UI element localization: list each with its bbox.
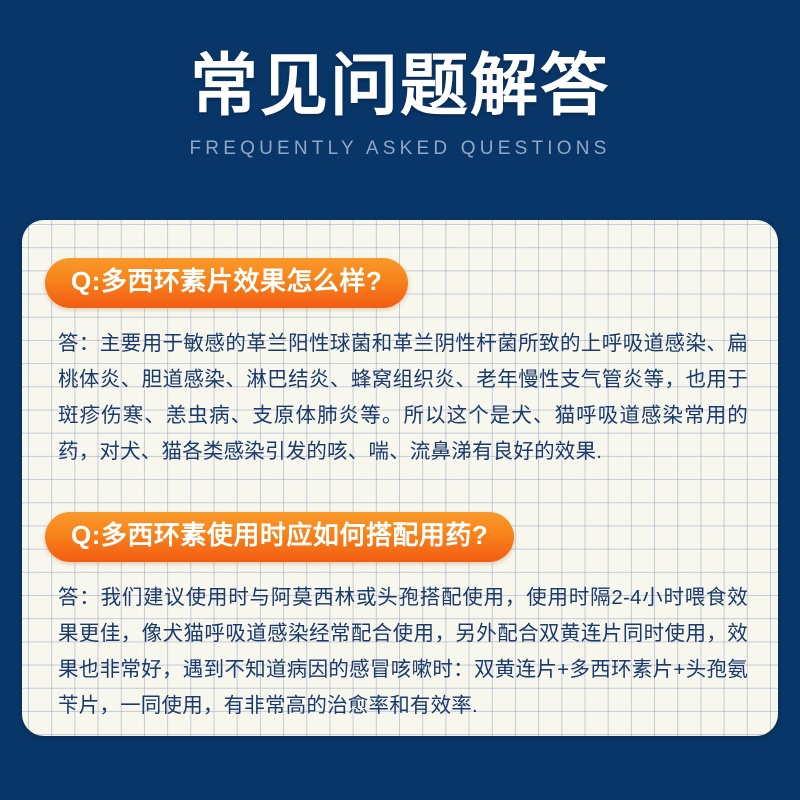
page-title: 常见问题解答 [0, 52, 800, 120]
answer-text-2: 答：我们建议使用时与阿莫西林或头孢搭配使用，使用时隔2-4小时喂食效果更佳，像犬… [58, 580, 748, 724]
answer-text-1: 答：主要用于敏感的革兰阳性球菌和革兰阴性杆菌所致的上呼吸道感染、扁桃体炎、胆道感… [58, 326, 748, 470]
faq-page: { "header": { "title": "常见问题解答", "subtit… [0, 0, 800, 800]
faq-card: Q:多西环素片效果怎么样? 答：主要用于敏感的革兰阳性球菌和革兰阴性杆菌所致的上… [22, 220, 778, 736]
faq-item-2: Q:多西环素使用时应如何搭配用药? 答：我们建议使用时与阿莫西林或头孢搭配使用，… [22, 512, 778, 724]
faq-item-1: Q:多西环素片效果怎么样? 答：主要用于敏感的革兰阳性球菌和革兰阴性杆菌所致的上… [22, 258, 778, 470]
question-pill-2[interactable]: Q:多西环素使用时应如何搭配用药? [45, 512, 514, 562]
page-header: 常见问题解答 FREQUENTLY ASKED QUESTIONS [0, 0, 800, 220]
question-pill-1[interactable]: Q:多西环素片效果怎么样? [45, 258, 408, 308]
page-subtitle: FREQUENTLY ASKED QUESTIONS [0, 138, 800, 160]
